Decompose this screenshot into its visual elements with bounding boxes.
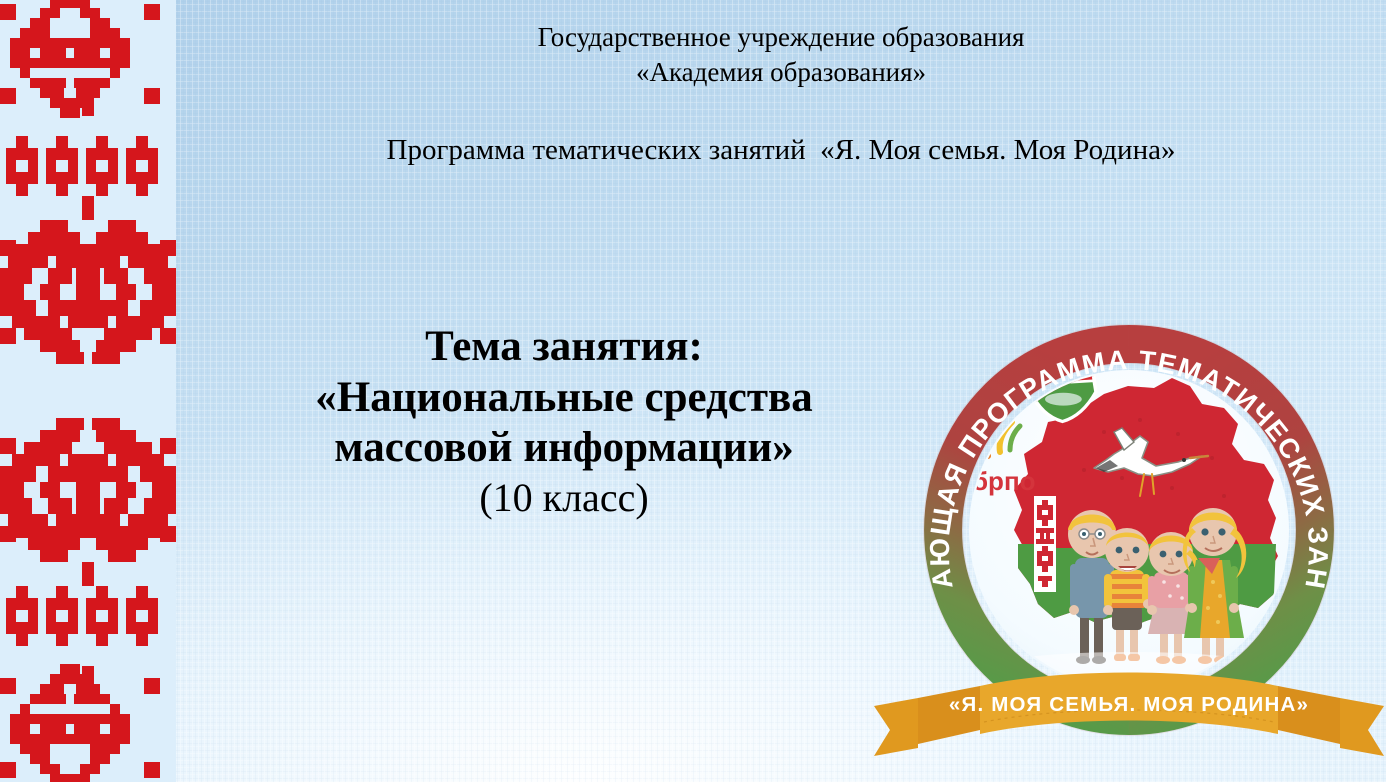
emblem-ribbon: «Я. МОЯ СЕМЬЯ. МОЯ РОДИНА» xyxy=(874,673,1384,757)
lesson-title-block: Тема занятия: «Национальные средства мас… xyxy=(214,322,914,521)
emblem-ribbon-text: «Я. МОЯ СЕМЬЯ. МОЯ РОДИНА» xyxy=(949,693,1309,716)
presentation-slide: Государственное учреждение образования «… xyxy=(0,0,1386,782)
belarusian-ornament-border xyxy=(0,0,176,782)
institution-line-2: «Академия образования» xyxy=(176,55,1386,90)
lesson-title-line-2: массовой информации» xyxy=(214,423,914,474)
lesson-title-label: Тема занятия: xyxy=(214,322,914,373)
program-title: Программа тематических занятий «Я. Моя с… xyxy=(176,132,1386,170)
institution-line-1: Государственное учреждение образования xyxy=(176,20,1386,55)
lesson-grade: (10 класс) xyxy=(214,474,914,521)
lesson-title-line-1: «Национальные средства xyxy=(214,373,914,424)
program-emblem: БРСМ брпо xyxy=(872,282,1386,782)
slide-header: Государственное учреждение образования «… xyxy=(176,20,1386,170)
